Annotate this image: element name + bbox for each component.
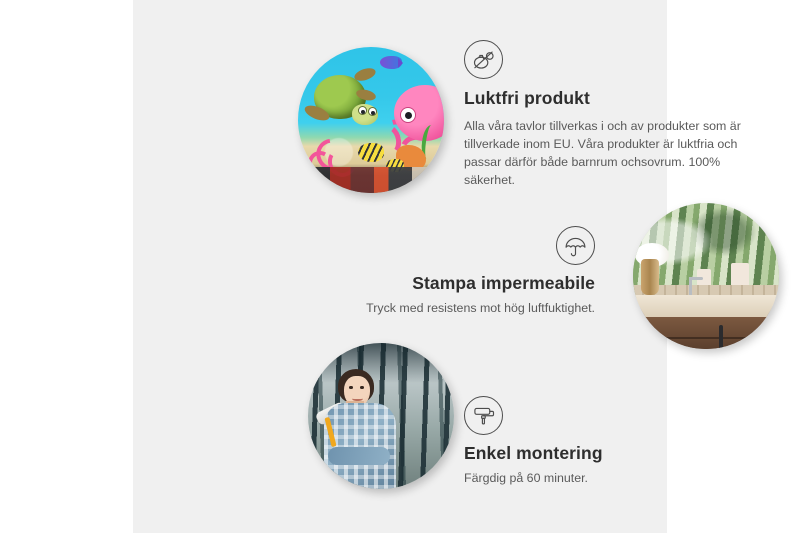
turtle-eye [368, 107, 377, 116]
cabinet-handle [719, 325, 723, 349]
faucet [689, 277, 692, 295]
scene-foreground-strip [298, 167, 444, 193]
product-image-woman-in-forest [308, 343, 454, 489]
product-image-botanical-bathroom [633, 203, 779, 349]
feature-waterproof: Stampa impermeabile Tryck med resistens … [313, 226, 595, 317]
feature-description: Färgdig på 60 minuter. [464, 469, 744, 487]
forest-background [308, 343, 454, 489]
no-odour-perfume-bottle-icon [464, 40, 503, 79]
feature-odourless: Luktfri produkt Alla våra tavlor tillver… [464, 40, 756, 189]
bathroom-background [633, 203, 779, 349]
product-image-underwater-scene [298, 47, 444, 193]
wooden-cabinet [633, 317, 779, 349]
underwater-background [298, 47, 444, 193]
feature-title: Enkel montering [464, 443, 744, 465]
feature-description: Tryck med resistens mot hög luftfuktighe… [313, 299, 595, 317]
page-root: Luktfri produkt Alla våra tavlor tillver… [0, 0, 800, 533]
turtle-eye [358, 106, 367, 115]
drawer-divider [633, 337, 779, 339]
woman-eye [360, 386, 364, 389]
forest-canopy [308, 343, 454, 383]
woman-eye [349, 386, 353, 389]
yellow-striped-fish [358, 143, 384, 162]
vase [641, 259, 659, 295]
feature-title: Stampa impermeabile [313, 273, 595, 295]
blue-fish [380, 56, 402, 69]
feature-title: Luktfri produkt [464, 88, 756, 110]
feature-description: Alla våra tavlor tillverkas i och av pro… [464, 117, 756, 189]
paint-roller-icon [464, 396, 503, 435]
octopus-eye [400, 107, 416, 123]
umbrella-icon [556, 226, 595, 265]
feature-assembly: Enkel montering Färgdig på 60 minuter. [464, 396, 744, 487]
drawer-handle [651, 347, 685, 349]
turtle-flipper [353, 66, 377, 83]
crossed-arms [328, 447, 390, 465]
content-panel: Luktfri produkt Alla våra tavlor tillver… [133, 0, 667, 533]
